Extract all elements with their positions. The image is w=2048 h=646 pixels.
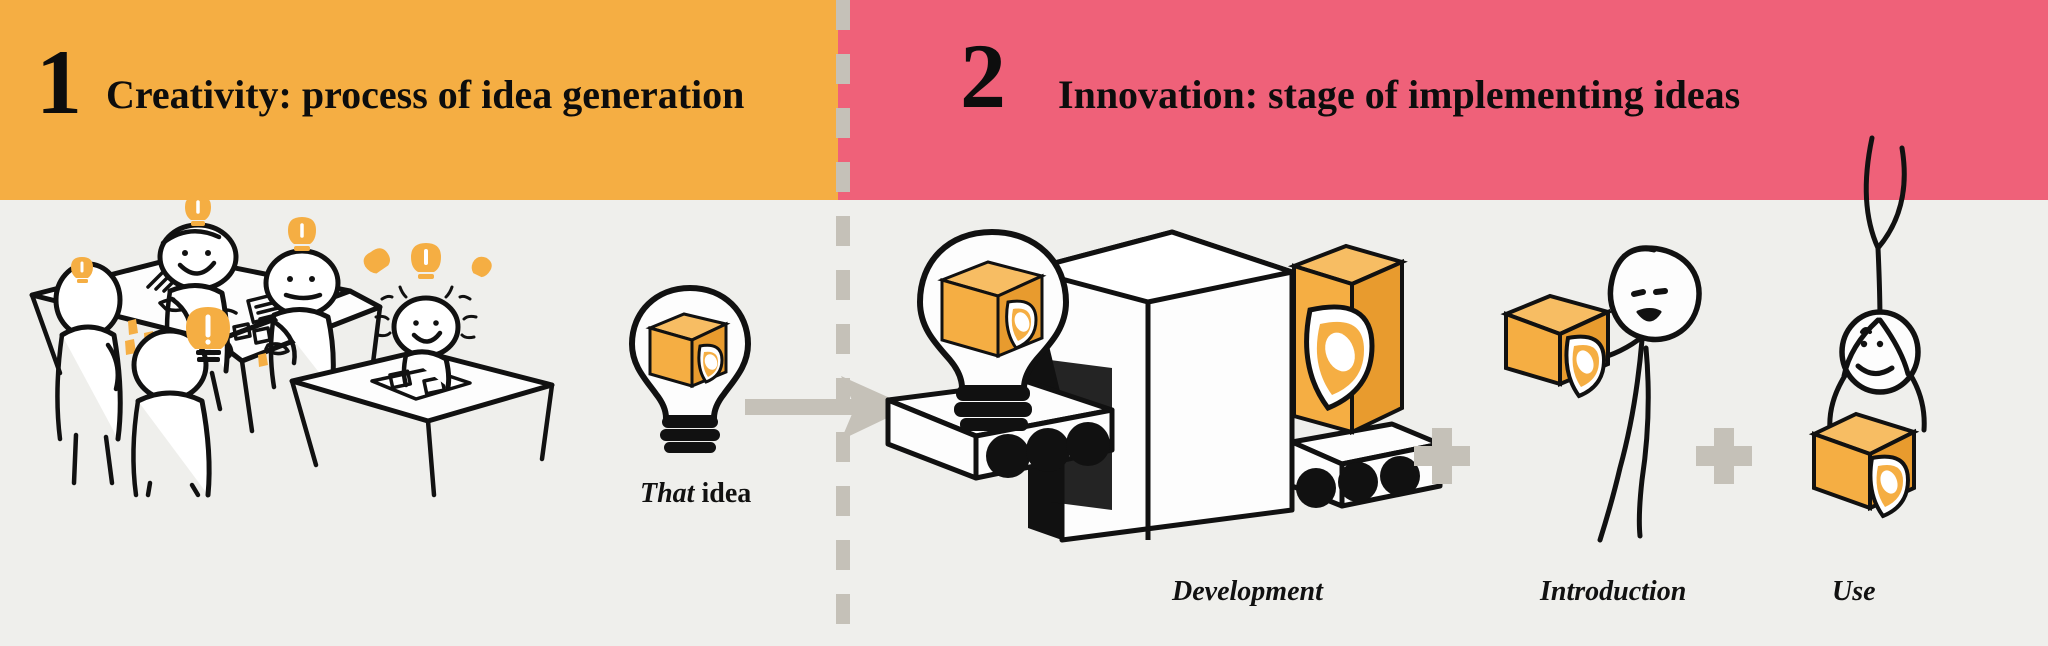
- step-number-2: 2: [960, 30, 1004, 122]
- label-that-idea-emphasis: That: [640, 478, 694, 509]
- illustration-introduction-person: [1498, 240, 1728, 570]
- step-number-1: 1: [36, 36, 80, 128]
- header-title-creativity: Creativity: process of idea generation: [106, 75, 744, 115]
- illustration-use-person: [1810, 130, 2040, 560]
- illustration-that-idea-bulb: [620, 280, 760, 460]
- section-divider-dashed: [836, 0, 850, 646]
- orange-cube: [1814, 414, 1914, 516]
- label-that-idea-rest: idea: [694, 478, 751, 509]
- orange-cube: [1506, 296, 1608, 396]
- illustration-team-brainstorming: [20, 195, 600, 495]
- label-introduction: Introduction: [1540, 576, 1686, 608]
- label-development: Development: [1172, 576, 1323, 608]
- infographic-canvas: 1 Creativity: process of idea generation…: [0, 0, 2048, 646]
- label-use: Use: [1832, 576, 1876, 608]
- bulb-base: [660, 416, 720, 453]
- header-title-innovation: Innovation: stage of implementing ideas: [1058, 75, 1740, 115]
- output-cube: [1294, 246, 1402, 432]
- orange-cube: [650, 314, 726, 386]
- illustration-development-machine: [880, 210, 1440, 570]
- plus-icon-2: [1696, 428, 1752, 484]
- label-that-idea: That idea: [640, 478, 751, 510]
- plus-icon-1: [1414, 428, 1470, 484]
